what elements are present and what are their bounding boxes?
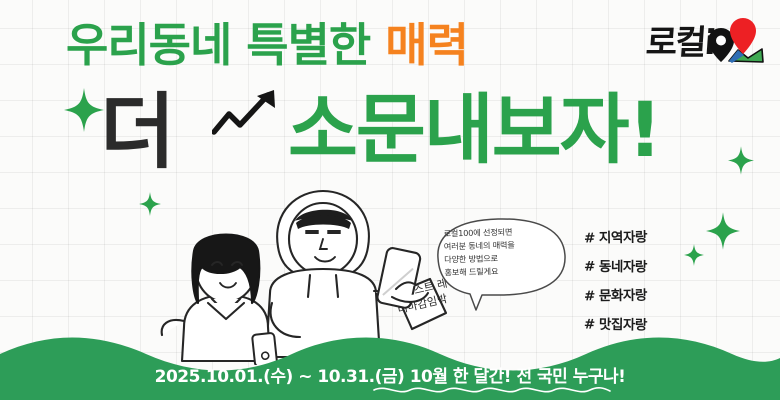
- speech-bubble-text: 로컬100에 선정되면 여러분 동네의 매력을 다양한 방법으로 홍보해 드릴게…: [443, 225, 564, 280]
- hashtag-item-1[interactable]: #지역자랑: [584, 225, 647, 246]
- hashtag-item-3[interactable]: #문화자랑: [584, 284, 647, 305]
- promo-banner: 로컬i 우리동네 특별한 매력 더 소문내보자!: [0, 0, 780, 400]
- sparkle-icon-1: [64, 88, 104, 132]
- hashtag-label-3: 문화자랑: [599, 288, 647, 305]
- headline-line-1: 우리동네 특별한 매력: [66, 22, 468, 68]
- sparkle-icon-2: [139, 192, 161, 216]
- logo-wordmark: 로컬i: [645, 26, 716, 60]
- sparkle-icon-4: [684, 244, 704, 266]
- hashtag-item-2[interactable]: #동네자랑: [584, 255, 647, 276]
- growth-arrow-icon: [212, 88, 282, 136]
- map-pin-red-icon: [730, 18, 756, 54]
- hash-symbol-1: #: [584, 230, 595, 246]
- sparkle-icon-5: [728, 146, 754, 175]
- headline-accent-word: 매력: [385, 18, 468, 72]
- headline-line-1-main: 우리동네 특별한: [66, 18, 385, 72]
- hashtag-label-1: 지역자랑: [599, 229, 647, 246]
- local-i-logo[interactable]: 로컬i: [646, 16, 768, 74]
- wavy-underline: [372, 384, 612, 396]
- sparkle-icon-3: [706, 212, 740, 250]
- headline-deo-char: 더: [100, 92, 175, 174]
- hash-symbol-3: #: [584, 288, 595, 304]
- hashtag-list: #지역자랑 #동네자랑 #문화자랑 #맛집자랑: [584, 226, 647, 333]
- headline-line-2: 소문내보자!: [288, 92, 660, 168]
- hashtag-label-2: 동네자랑: [599, 259, 647, 276]
- hash-symbol-2: #: [584, 259, 595, 275]
